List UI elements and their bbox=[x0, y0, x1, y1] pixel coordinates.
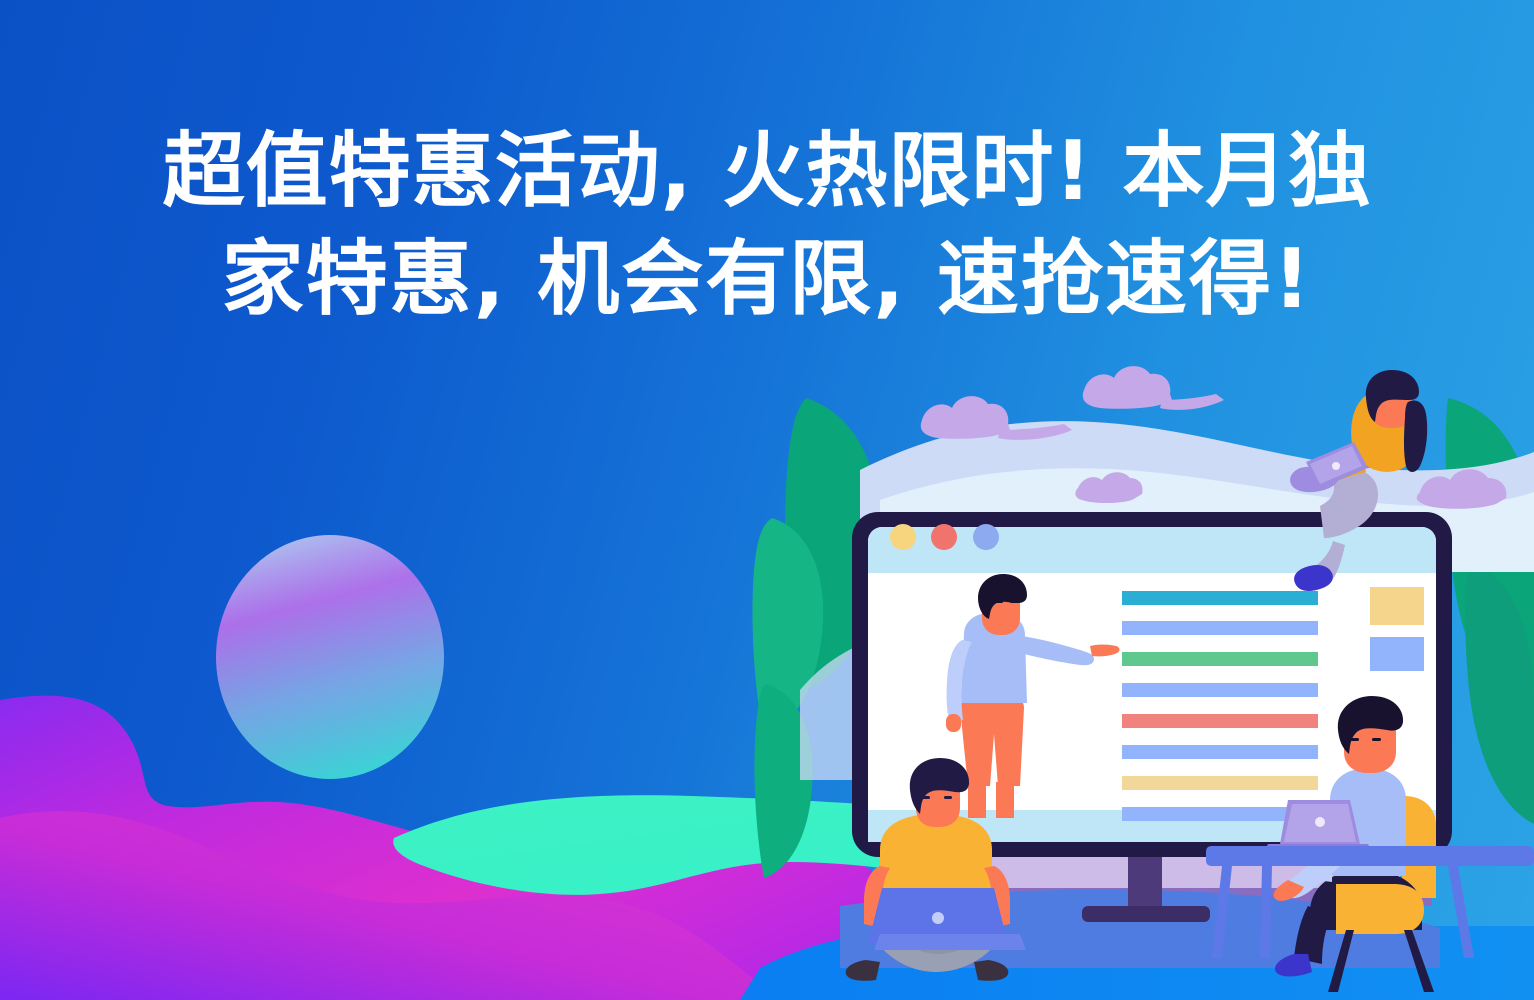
content-bar-2 bbox=[1122, 621, 1318, 635]
content-bar-7 bbox=[1122, 776, 1318, 790]
side-box-blue bbox=[1370, 637, 1424, 671]
headline: 超值特惠活动, 火热限时! 本月独 家特惠, 机会有限, 速抢速得! bbox=[0, 118, 1534, 334]
headline-line-1: 超值特惠活动, 火热限时! 本月独 bbox=[110, 118, 1424, 226]
window-dot-red bbox=[931, 524, 957, 550]
content-bar-1 bbox=[1122, 591, 1318, 605]
side-box-yellow bbox=[1370, 587, 1424, 625]
window-dot-blue bbox=[973, 524, 999, 550]
window-dot-yellow bbox=[890, 524, 916, 550]
content-bar-6 bbox=[1122, 745, 1318, 759]
promo-banner: 超值特惠活动, 火热限时! 本月独 家特惠, 机会有限, 速抢速得! bbox=[0, 0, 1534, 1000]
browser-title-bar bbox=[868, 524, 1436, 573]
content-bar-4 bbox=[1122, 683, 1318, 697]
content-bar-3 bbox=[1122, 652, 1318, 666]
headline-line-2: 家特惠, 机会有限, 速抢速得! bbox=[110, 226, 1424, 334]
content-bar-5 bbox=[1122, 714, 1318, 728]
